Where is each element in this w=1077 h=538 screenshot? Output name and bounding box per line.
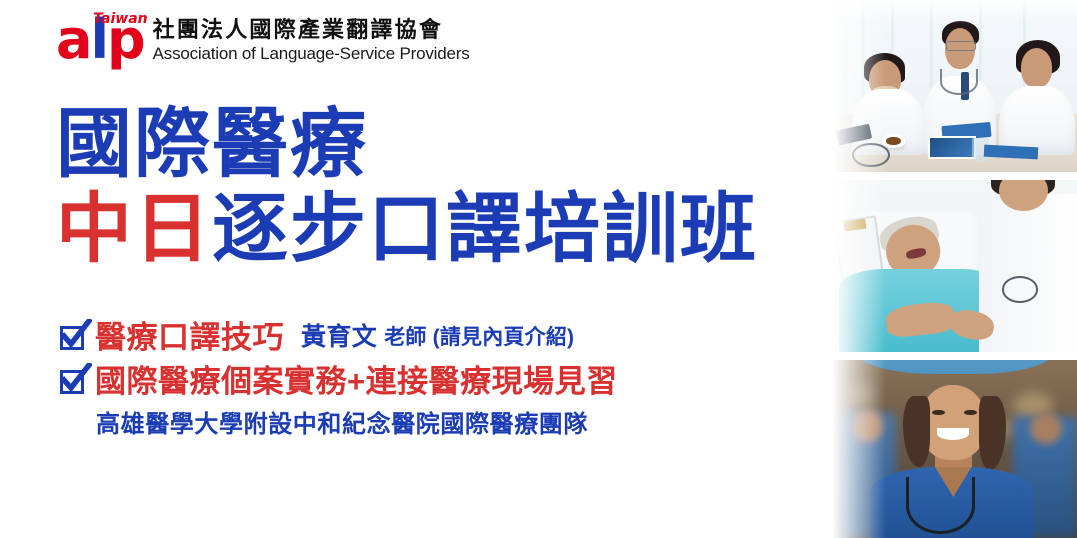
logo-text-block: 社團法人國際產業翻譯協會 Association of Language-Ser… — [153, 17, 470, 65]
checkbox-checked-icon — [58, 367, 88, 397]
org-name-english: Association of Language-Service Provider… — [153, 44, 470, 64]
instructor-name: 黃育文 — [301, 325, 377, 350]
course-module-list: 醫療口譯技巧 黃育文 老師 (請見內頁介紹) 國際醫療個案實務+連接醫療現場見習… — [58, 322, 798, 437]
logo-letter-a: a — [56, 14, 90, 65]
photo-patient-with-doctor — [832, 180, 1077, 352]
title-line-2: 中日逐步口譯培訓班 — [56, 187, 758, 272]
photo-smiling-nurse — [832, 360, 1077, 538]
instructor-note: 老師 (請見內頁介紹) — [384, 327, 574, 348]
title-line-2-red: 中日 — [56, 187, 212, 272]
content-column: alp Taiwan 社團法人國際產業翻譯協會 Association of L… — [0, 0, 832, 538]
course-promo-poster: alp Taiwan 社團法人國際產業翻譯協會 Association of L… — [0, 0, 1077, 538]
page-title: 國際醫療 中日逐步口譯培訓班 — [56, 102, 758, 272]
list-item: 醫療口譯技巧 黃育文 老師 (請見內頁介紹) — [58, 322, 798, 353]
title-line-1: 國際醫療 — [56, 102, 758, 187]
logo-taiwan-badge: Taiwan — [93, 12, 147, 26]
photo-doctors-meeting — [832, 0, 1077, 172]
photo-column — [832, 0, 1077, 538]
logo-mark: alp Taiwan — [56, 14, 144, 65]
org-name-chinese: 社團法人國際產業翻譯協會 — [153, 17, 470, 42]
title-line-2-blue: 逐步口譯培訓班 — [212, 187, 758, 272]
module-title: 醫療口譯技巧 — [95, 322, 284, 353]
checkbox-checked-icon — [58, 323, 88, 353]
alp-logo[interactable]: alp Taiwan 社團法人國際產業翻譯協會 Association of L… — [56, 14, 470, 65]
list-item: 國際醫療個案實務+連接醫療現場見習 — [58, 366, 798, 397]
module-title: 國際醫療個案實務+連接醫療現場見習 — [95, 366, 618, 397]
partner-organization: 高雄醫學大學附設中和紀念醫院國際醫療團隊 — [96, 413, 798, 437]
